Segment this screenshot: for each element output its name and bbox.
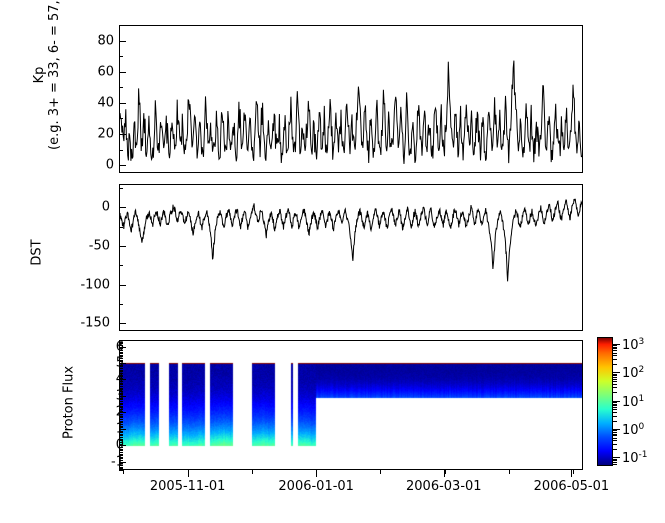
flux-ticklabel-3: 3 (116, 389, 124, 402)
colorbar-minor-tick (613, 438, 617, 439)
dst-series-line (120, 185, 582, 330)
colorbar-minor-tick (613, 464, 617, 465)
colorbar-minor-tick (613, 381, 617, 382)
flux-ticklabel-6: 6 (116, 340, 124, 353)
flux-ticklabel-5: 5 (116, 357, 124, 370)
kp-axis-title-line1: Kp (32, 0, 47, 150)
kp-ticklabel-20: 20 (97, 128, 114, 141)
kp-ticklabel-40: 40 (97, 96, 114, 109)
colorbar-minor-tick (613, 460, 617, 461)
colorbar-ticklabel-1e1: 101 (622, 393, 644, 409)
kp-ticklabel-0: 0 (106, 159, 114, 172)
colorbar-minor-tick (613, 375, 617, 376)
kp-axis-title: Kp (e.g. 3+ = 33, 6- = 57, 4 = 40, etc.) (32, 0, 62, 150)
colorbar-minor-tick (613, 405, 617, 406)
flux-ticklabel-0: 0 (116, 439, 124, 452)
colorbar-minor-tick (613, 412, 617, 413)
colorbar-minor-tick (613, 387, 617, 388)
colorbar-minor-tick (613, 347, 617, 348)
dst-ticklabel--150: -150 (80, 317, 110, 330)
colorbar-minor-tick (613, 421, 617, 422)
dst-axis-title: DST (30, 203, 45, 303)
colorbar-ticklabel-1e0: 100 (622, 421, 644, 437)
colorbar-minor-tick (613, 392, 617, 393)
colorbar-minor-tick (613, 462, 617, 463)
colorbar-minor-tick (613, 364, 617, 365)
kp-axis-title-line2: (e.g. 3+ = 33, 6- = 57, 4 = 40, etc.) (47, 0, 62, 150)
dst-y-tickmarks (119, 184, 127, 331)
colorbar-minor-tick (613, 377, 617, 378)
dst-tick--125 (119, 304, 123, 305)
colorbar-tickmarks (613, 337, 622, 466)
colorbar-minor-tick (613, 355, 617, 356)
kp-y-tickmarks (119, 25, 127, 173)
dst-tick--75 (119, 265, 123, 266)
flux-ticklabel-4: 4 (116, 373, 124, 386)
dst-ticklabel-0: 0 (102, 201, 110, 214)
kp-ticklabel-60: 60 (97, 65, 114, 78)
proton-flux-spectrogram (120, 341, 582, 469)
colorbar-minor-tick (613, 416, 617, 417)
x-ticklabel-2006-01-01: 2006-01-01 (278, 480, 354, 494)
kp-tick-80 (119, 41, 126, 42)
colorbar-minor-tick (613, 409, 617, 410)
flux-axis-title: Proton Flux (62, 348, 77, 458)
kp-tick-20 (119, 134, 126, 135)
kp-tick-70 (119, 56, 123, 57)
kp-tick-30 (119, 118, 123, 119)
dst-tick-0 (119, 207, 126, 208)
dst-tick-25 (119, 188, 123, 189)
colorbar-minor-tick (613, 374, 617, 375)
colorbar-minor-tick (613, 345, 617, 346)
colorbar-minor-tick (613, 350, 617, 351)
x-ticklabel-2006-05-01: 2006-05-01 (534, 480, 610, 494)
colorbar-minor-tick (613, 434, 617, 435)
colorbar-minor-tick (613, 359, 617, 360)
x-ticklabel-2005-11-01: 2005-11-01 (150, 480, 226, 494)
colorbar-minor-tick (613, 449, 617, 450)
colorbar-minor-tick (613, 407, 617, 408)
colorbar-ticklabels: 10310210110010-1 (622, 337, 665, 466)
colorbar-minor-tick (613, 430, 617, 431)
kp-tick-50 (119, 87, 123, 88)
kp-plot-panel (119, 25, 583, 173)
dst-tick--100 (119, 285, 126, 286)
colorbar-minor-tick (613, 444, 617, 445)
x-ticklabel-2006-03-01: 2006-03-01 (406, 480, 482, 494)
colorbar-ticklabel-1e3: 103 (622, 336, 644, 352)
dst-y-ticklabels: -150-100-500 (78, 184, 110, 331)
dst-tick--50 (119, 246, 126, 247)
colorbar-ticklabel-1e-1: 10-1 (622, 449, 648, 465)
flux-ticklabel-1: 1 (116, 422, 124, 435)
kp-series-line (120, 26, 582, 172)
dst-ticklabel--100: -100 (80, 278, 110, 291)
colorbar-minor-tick (613, 432, 617, 433)
colorbar-minor-tick (613, 440, 617, 441)
colorbar-ticklabel-1e2: 102 (622, 364, 644, 380)
dst-ticklabel--50: -50 (89, 239, 110, 252)
colorbar-minor-tick (613, 348, 617, 349)
colorbar-minor-tick (613, 402, 617, 403)
kp-tick-60 (119, 72, 126, 73)
kp-y-ticklabels: 020406080 (82, 25, 114, 173)
flux-ticklabel--1: -1 (111, 455, 124, 468)
colorbar-jet-ramp (597, 337, 613, 466)
kp-tick-0 (119, 165, 126, 166)
colorbar-minor-tick (613, 384, 617, 385)
colorbar-minor-tick (613, 459, 617, 460)
colorbar-minor-tick (613, 353, 617, 354)
flux-y-ticklabels: -10123456 (92, 340, 124, 470)
dst-plot-panel (119, 184, 583, 331)
kp-ticklabel-80: 80 (97, 34, 114, 47)
dst-tick--25 (119, 227, 123, 228)
colorbar-minor-tick (613, 404, 617, 405)
flux-ticklabel-2: 2 (116, 406, 124, 419)
dst-tick--150 (119, 323, 126, 324)
x-axis-ticklabels: 2005-11-012006-01-012006-03-012006-05-01 (119, 470, 583, 500)
kp-tick-10 (119, 150, 123, 151)
colorbar-minor-tick (613, 379, 617, 380)
colorbar-minor-tick (613, 435, 617, 436)
proton-flux-plot-panel (119, 340, 583, 470)
colorbar-gradient (597, 337, 613, 466)
kp-tick-40 (119, 103, 126, 104)
